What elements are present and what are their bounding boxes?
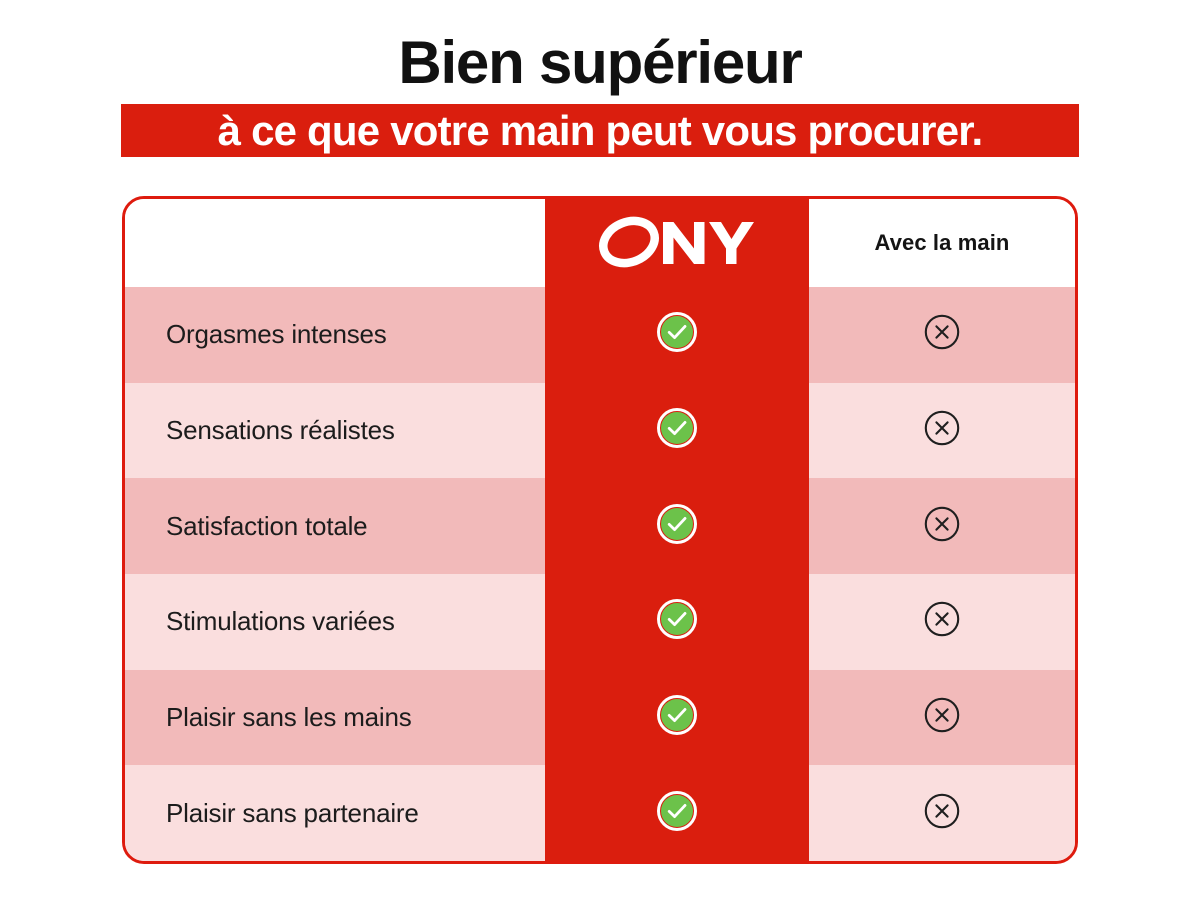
- hand-mark-cell: [809, 478, 1075, 574]
- page-title: Bien supérieur: [0, 0, 1200, 93]
- brand-mark-cell: [545, 478, 809, 574]
- cross-circle-icon: [922, 791, 962, 836]
- hand-mark-cell: [809, 383, 1075, 479]
- feature-label: Sensations réalistes: [125, 415, 395, 446]
- feature-label: Plaisir sans partenaire: [125, 798, 419, 829]
- hand-mark-cell: [809, 287, 1075, 383]
- table-row: Stimulations variées: [125, 574, 545, 670]
- table-row: Plaisir sans partenaire: [125, 765, 545, 861]
- brand-mark-cell: [545, 670, 809, 766]
- feature-label: Orgasmes intenses: [125, 319, 387, 350]
- cross-circle-icon: [922, 599, 962, 644]
- cross-circle-icon: [922, 408, 962, 453]
- hand-mark-cell: [809, 574, 1075, 670]
- page-subtitle: à ce que votre main peut vous procurer.: [218, 110, 983, 152]
- table-row: Satisfaction totale: [125, 478, 545, 574]
- table-row: Orgasmes intenses: [125, 287, 545, 383]
- check-circle-icon: [657, 312, 697, 357]
- hand-mark-cell: [809, 670, 1075, 766]
- check-circle-icon: [657, 408, 697, 453]
- header-cell-brand: [545, 199, 809, 287]
- comparison-grid: Avec la mainOrgasmes intensesSensations …: [125, 199, 1075, 861]
- header-label-hand: Avec la main: [875, 230, 1010, 256]
- cross-circle-icon: [922, 312, 962, 357]
- check-circle-icon: [657, 599, 697, 644]
- feature-label: Satisfaction totale: [125, 511, 367, 542]
- subtitle-banner: à ce que votre main peut vous procurer.: [121, 104, 1079, 157]
- check-circle-icon: [657, 791, 697, 836]
- brand-mark-cell: [545, 765, 809, 861]
- headline-block: Bien supérieur à ce que votre main peut …: [0, 0, 1200, 157]
- header-cell-hand: Avec la main: [809, 199, 1075, 287]
- header-cell-blank: [125, 199, 545, 287]
- brand-mark-cell: [545, 574, 809, 670]
- check-circle-icon: [657, 504, 697, 549]
- brand-mark-cell: [545, 383, 809, 479]
- table-row: Sensations réalistes: [125, 383, 545, 479]
- table-row: Plaisir sans les mains: [125, 670, 545, 766]
- cross-circle-icon: [922, 695, 962, 740]
- check-circle-icon: [657, 695, 697, 740]
- cross-circle-icon: [922, 504, 962, 549]
- hand-mark-cell: [809, 765, 1075, 861]
- feature-label: Plaisir sans les mains: [125, 702, 412, 733]
- ony-logo: [597, 216, 757, 268]
- comparison-table: Avec la mainOrgasmes intensesSensations …: [122, 196, 1078, 864]
- brand-mark-cell: [545, 287, 809, 383]
- feature-label: Stimulations variées: [125, 606, 395, 637]
